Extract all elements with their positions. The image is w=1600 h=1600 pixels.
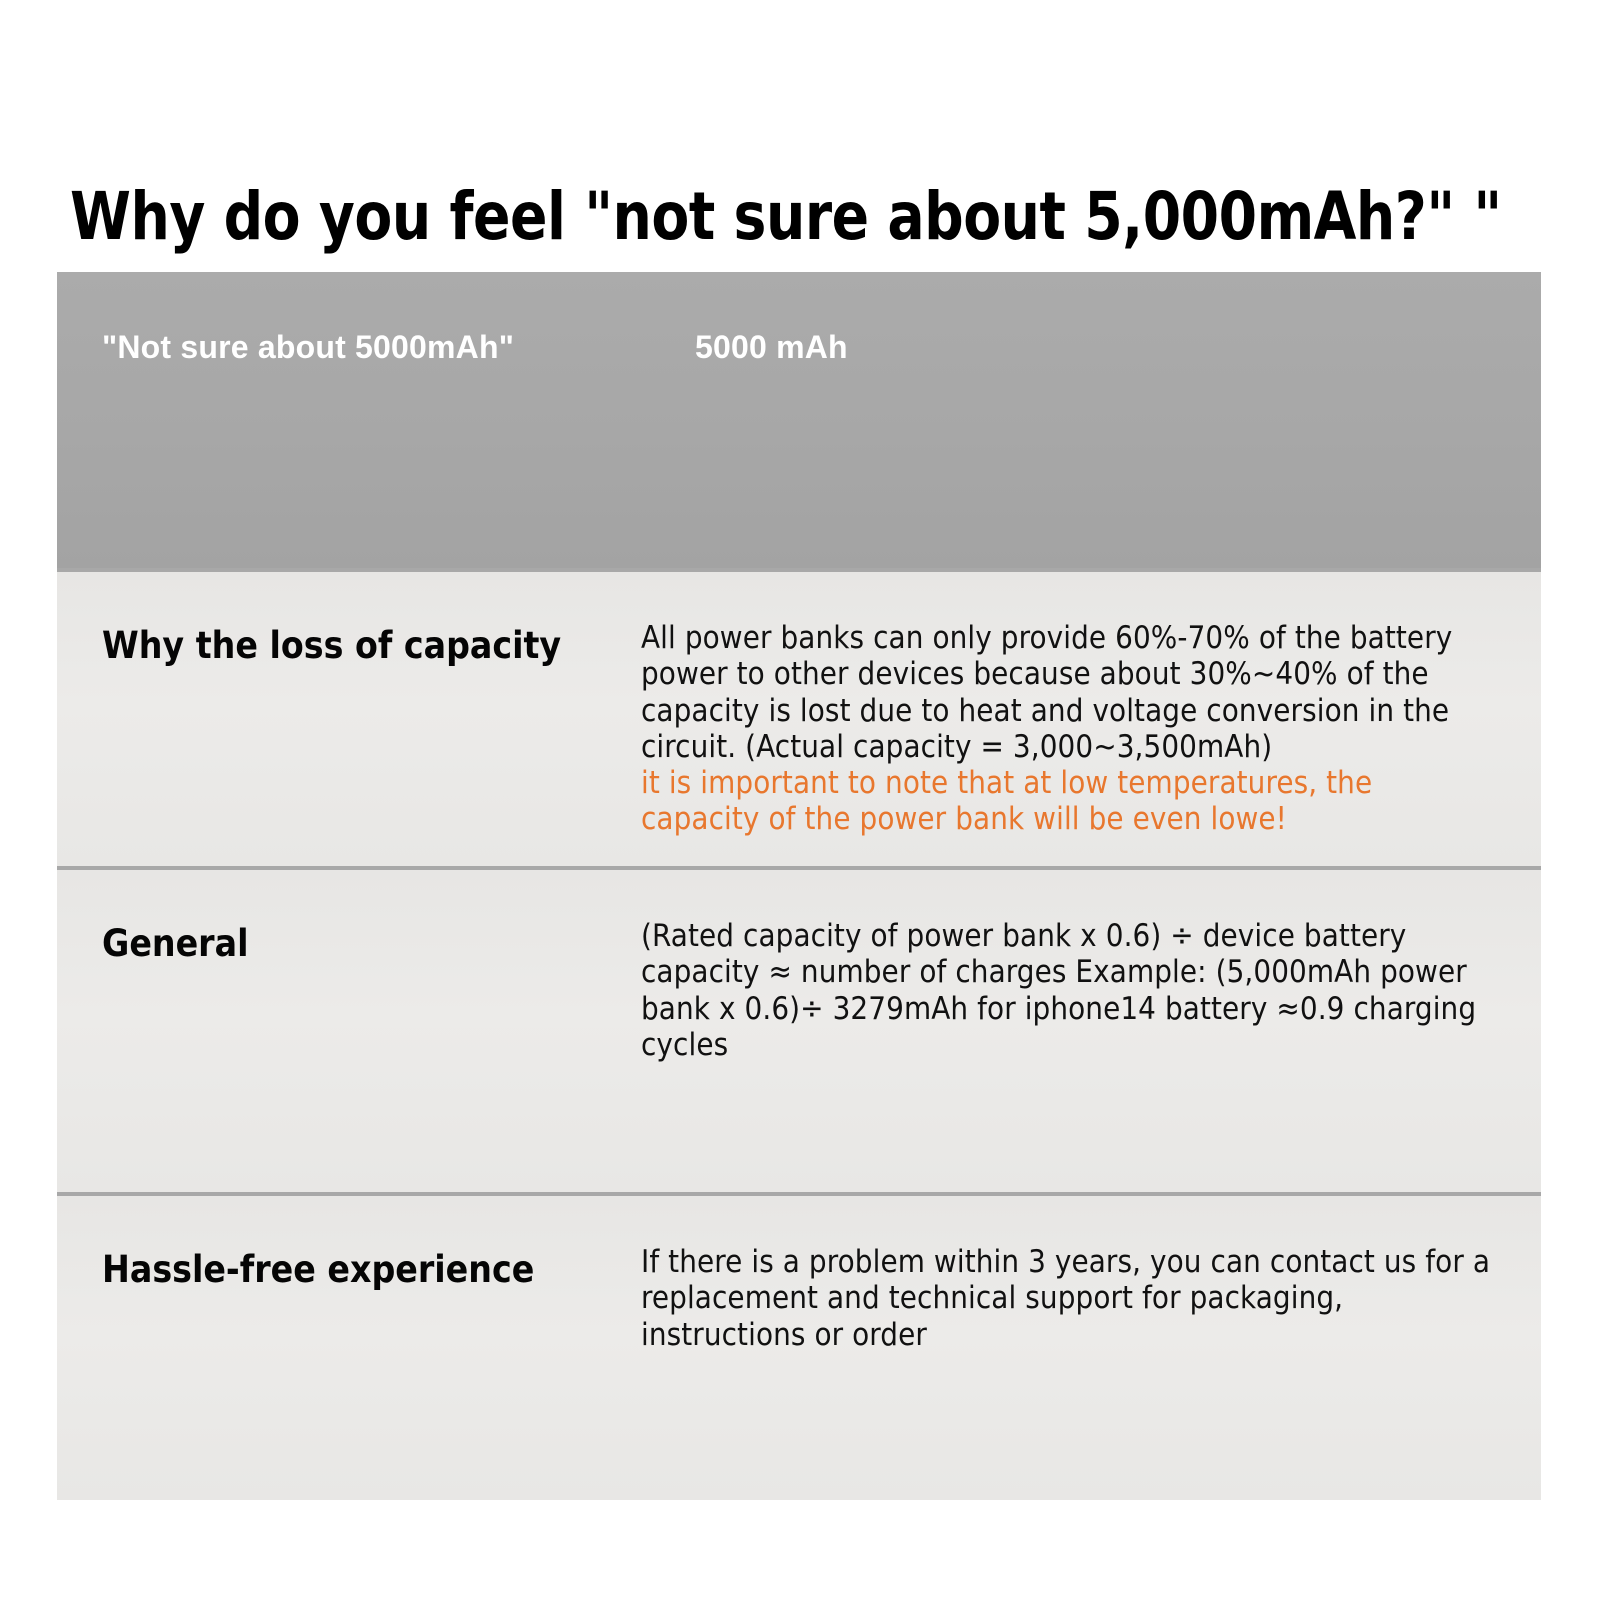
table-header-row: "Not sure about 5000mAh" 5000 mAh xyxy=(57,272,1541,568)
row-warning-text: it is important to note that at low temp… xyxy=(641,765,1493,838)
row-body-cell: If there is a problem within 3 years, yo… xyxy=(641,1196,1541,1500)
row-label-hassle-free-experience: Hassle-free experience xyxy=(102,1250,641,1291)
table-row: Why the loss of capacity All power banks… xyxy=(57,568,1541,866)
row-label-cell: General xyxy=(57,870,641,1192)
row-body-text: If there is a problem within 3 years, yo… xyxy=(641,1244,1493,1353)
table-header-column-b: 5000 mAh xyxy=(695,330,848,365)
table-row: Hassle-free experience If there is a pro… xyxy=(57,1192,1541,1500)
row-body-text: All power banks can only provide 60%-70%… xyxy=(641,620,1493,765)
row-body-text: (Rated capacity of power bank x 0.6) ÷ d… xyxy=(641,918,1493,1063)
row-label-why-the-loss-of-capacity: Why the loss of capacity xyxy=(102,626,641,667)
row-body-cell: All power banks can only provide 60%-70%… xyxy=(641,572,1541,866)
row-label-general: General xyxy=(102,924,641,965)
row-label-cell: Hassle-free experience xyxy=(57,1196,641,1500)
table-header-column-a: "Not sure about 5000mAh" xyxy=(102,330,514,365)
page-title: Why do you feel "not sure about 5,000mAh… xyxy=(70,184,1446,250)
comparison-table: "Not sure about 5000mAh" 5000 mAh Why th… xyxy=(57,272,1541,1500)
infographic-page: Why do you feel "not sure about 5,000mAh… xyxy=(0,0,1600,1600)
row-body-cell: (Rated capacity of power bank x 0.6) ÷ d… xyxy=(641,870,1541,1192)
table-row: General (Rated capacity of power bank x … xyxy=(57,866,1541,1192)
row-label-cell: Why the loss of capacity xyxy=(57,572,641,866)
